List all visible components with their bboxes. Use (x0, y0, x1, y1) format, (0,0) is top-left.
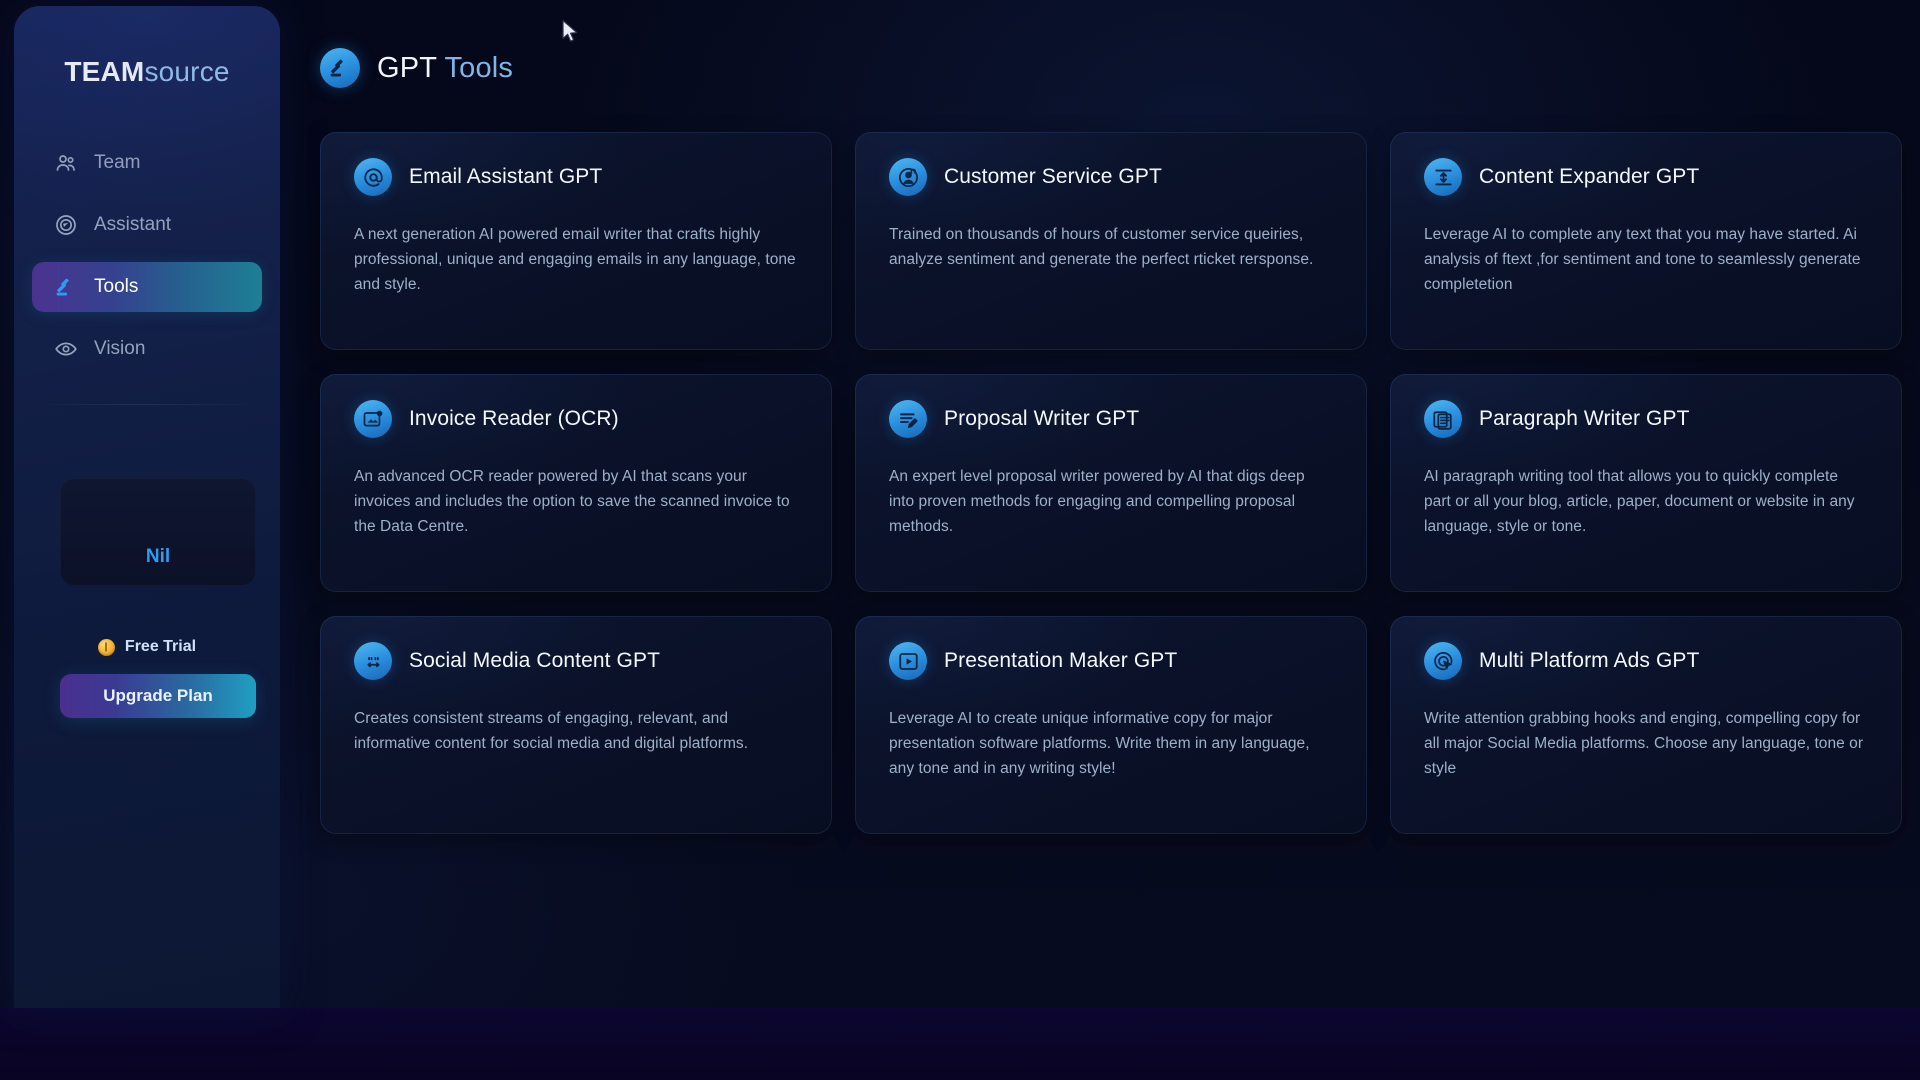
plan-usage-value: Nil (146, 546, 170, 568)
page-title-part1: GPT (377, 52, 444, 84)
sidebar-item-label: Tools (94, 276, 138, 298)
sidebar-item-label: Team (94, 152, 140, 174)
card-title: Customer Service GPT (944, 165, 1162, 189)
card-title: Proposal Writer GPT (944, 407, 1139, 431)
brand-name-primary: TEAM (64, 56, 144, 87)
tool-card-customer-service[interactable]: Customer Service GPT Trained on thousand… (855, 132, 1367, 350)
card-description: An expert level proposal writer powered … (889, 465, 1333, 539)
tools-grid: Email Assistant GPT A next generation AI… (320, 132, 1900, 834)
main-content: GPT Tools Email Assistant GPT A next gen… (300, 0, 1920, 1080)
sidebar-item-label: Assistant (94, 214, 171, 236)
card-description: An advanced OCR reader powered by AI tha… (354, 465, 798, 539)
compass-icon (54, 213, 78, 237)
card-description: Leverage AI to create unique informative… (889, 707, 1333, 781)
card-header: Multi Platform Ads GPT (1424, 642, 1868, 680)
card-title: Email Assistant GPT (409, 165, 602, 189)
app-root: TEAMsource Team As (0, 0, 1920, 1080)
click-target-icon (1424, 642, 1462, 680)
sidebar-divider (36, 404, 258, 405)
brand-logo: TEAMsource (14, 56, 280, 88)
card-description: AI paragraph writing tool that allows yo… (1424, 465, 1868, 539)
card-header: Proposal Writer GPT (889, 400, 1333, 438)
card-title: Invoice Reader (OCR) (409, 407, 619, 431)
card-title: Social Media Content GPT (409, 649, 660, 673)
page-title: GPT Tools (377, 52, 513, 85)
sidebar-item-assistant[interactable]: Assistant (32, 200, 262, 250)
tool-card-paragraph-writer[interactable]: Paragraph Writer GPT AI paragraph writin… (1390, 374, 1902, 592)
card-header: Customer Service GPT (889, 158, 1333, 196)
card-title: Multi Platform Ads GPT (1479, 649, 1699, 673)
image-scan-icon (354, 400, 392, 438)
document-edit-icon (889, 400, 927, 438)
card-description: Leverage AI to complete any text that yo… (1424, 223, 1868, 297)
plan-usage-card: Nil (60, 478, 256, 586)
article-icon (1424, 400, 1462, 438)
sidebar-item-tools[interactable]: Tools (32, 262, 262, 312)
sidebar: TEAMsource Team As (14, 6, 280, 1008)
card-description: A next generation AI powered email write… (354, 223, 798, 297)
expand-vertical-icon (1424, 158, 1462, 196)
card-header: Presentation Maker GPT (889, 642, 1333, 680)
card-title: Presentation Maker GPT (944, 649, 1177, 673)
card-description: Trained on thousands of hours of custome… (889, 223, 1333, 273)
card-title: Paragraph Writer GPT (1479, 407, 1690, 431)
brand-name-secondary: source (144, 56, 229, 87)
sidebar-item-team[interactable]: Team (32, 138, 262, 188)
sidebar-item-vision[interactable]: Vision (32, 324, 262, 374)
eye-icon (54, 337, 78, 361)
tool-card-invoice-reader[interactable]: Invoice Reader (OCR) An advanced OCR rea… (320, 374, 832, 592)
gavel-icon (320, 48, 360, 88)
tool-card-multi-platform-ads[interactable]: Multi Platform Ads GPT Write attention g… (1390, 616, 1902, 834)
tool-card-presentation-maker[interactable]: Presentation Maker GPT Leverage AI to cr… (855, 616, 1367, 834)
at-sign-icon (354, 158, 392, 196)
card-description: Creates consistent streams of engaging, … (354, 707, 798, 757)
free-trial-label: Free Trial (125, 638, 196, 656)
tool-card-email-assistant[interactable]: Email Assistant GPT A next generation AI… (320, 132, 832, 350)
page-header: GPT Tools (320, 48, 513, 88)
free-trial-status: Free Trial (14, 638, 280, 656)
users-icon (54, 151, 78, 175)
card-title: Content Expander GPT (1479, 165, 1699, 189)
gavel-icon (54, 275, 78, 299)
card-header: Content Expander GPT (1424, 158, 1868, 196)
page-title-part2: Tools (444, 52, 513, 84)
card-header: Invoice Reader (OCR) (354, 400, 798, 438)
card-header: Social Media Content GPT (354, 642, 798, 680)
customer-support-icon (889, 158, 927, 196)
upgrade-plan-button[interactable]: Upgrade Plan (60, 674, 256, 718)
card-header: Email Assistant GPT (354, 158, 798, 196)
emoji-face-icon (354, 642, 392, 680)
tool-card-content-expander[interactable]: Content Expander GPT Leverage AI to comp… (1390, 132, 1902, 350)
card-header: Paragraph Writer GPT (1424, 400, 1868, 438)
tool-card-social-media-content[interactable]: Social Media Content GPT Creates consist… (320, 616, 832, 834)
slideshow-icon (889, 642, 927, 680)
card-description: Write attention grabbing hooks and engin… (1424, 707, 1868, 781)
sidebar-nav: Team Assistant (32, 138, 262, 386)
coin-icon (98, 639, 115, 656)
tool-card-proposal-writer[interactable]: Proposal Writer GPT An expert level prop… (855, 374, 1367, 592)
sidebar-item-label: Vision (94, 338, 145, 360)
